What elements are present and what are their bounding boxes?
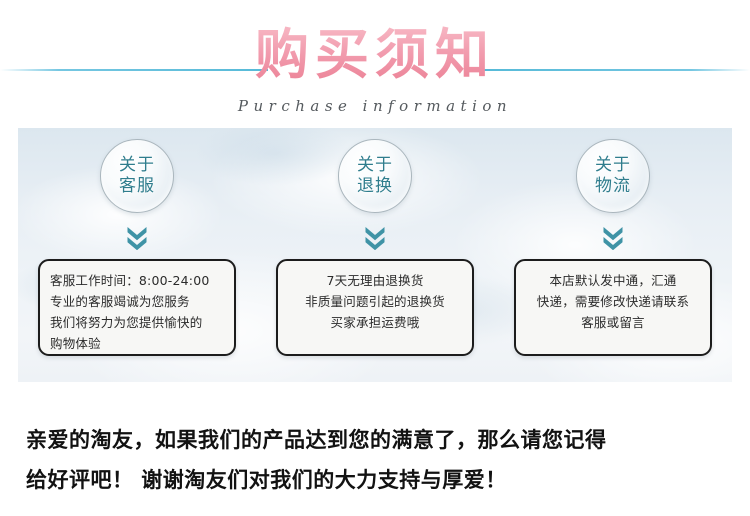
chevron-double-down-icon	[124, 224, 150, 250]
badge-returns[interactable]: 关于 退换	[338, 139, 412, 213]
info-line: 7天无理由退换货	[288, 270, 462, 291]
info-line: 专业的客服竭诚为您服务	[50, 291, 224, 312]
badge-line-1: 关于	[357, 155, 393, 176]
info-column-logistics: 关于 物流 本店默认发中通，汇通 快递，需要修改快递请联系 客服或留言	[494, 128, 732, 382]
info-columns: 关于 客服 客服工作时间：8:00-24:00 专业的客服竭诚为您服务 我们将努…	[18, 128, 732, 382]
page-title: 购买须知	[0, 26, 750, 84]
info-box-customer-service: 客服工作时间：8:00-24:00 专业的客服竭诚为您服务 我们将努力为您提供愉…	[38, 259, 236, 356]
info-line: 客服或留言	[526, 312, 700, 333]
info-line: 购物体验	[50, 333, 224, 354]
info-box-logistics: 本店默认发中通，汇通 快递，需要修改快递请联系 客服或留言	[514, 259, 712, 356]
badge-line-1: 关于	[595, 155, 631, 176]
badge-line-2: 退换	[357, 176, 393, 197]
info-line: 买家承担运费哦	[288, 312, 462, 333]
badge-customer-service[interactable]: 关于 客服	[100, 139, 174, 213]
badge-line-2: 物流	[595, 176, 631, 197]
footer-line-2: 给好评吧！ 谢谢淘友们对我们的大力支持与厚爱！	[26, 460, 750, 500]
page-footer: 亲爱的淘友，如果我们的产品达到您的满意了，那么请您记得 给好评吧！ 谢谢淘友们对…	[0, 420, 750, 516]
info-line: 非质量问题引起的退换货	[288, 291, 462, 312]
badge-line-1: 关于	[119, 155, 155, 176]
page-subtitle: Purchase information	[0, 97, 750, 115]
info-line: 快递，需要修改快递请联系	[526, 291, 700, 312]
info-column-returns: 关于 退换 7天无理由退换货 非质量问题引起的退换货 买家承担运费哦	[256, 128, 494, 382]
badge-line-2: 客服	[119, 176, 155, 197]
chevron-double-down-icon	[362, 224, 388, 250]
info-box-returns: 7天无理由退换货 非质量问题引起的退换货 买家承担运费哦	[276, 259, 474, 356]
page-header: 购买须知 购买须知 Purchase information	[0, 0, 750, 128]
info-line: 本店默认发中通，汇通	[526, 270, 700, 291]
info-column-customer-service: 关于 客服 客服工作时间：8:00-24:00 专业的客服竭诚为您服务 我们将努…	[18, 128, 256, 382]
footer-line-1: 亲爱的淘友，如果我们的产品达到您的满意了，那么请您记得	[26, 420, 750, 460]
badge-logistics[interactable]: 关于 物流	[576, 139, 650, 213]
chevron-double-down-icon	[600, 224, 626, 250]
info-line: 客服工作时间：8:00-24:00	[50, 270, 224, 291]
info-line: 我们将努力为您提供愉快的	[50, 312, 224, 333]
